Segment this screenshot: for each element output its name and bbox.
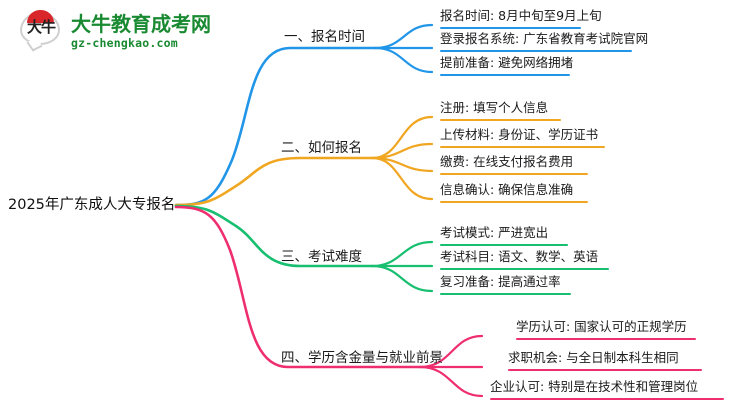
leaf-1-3-text: 提前准备: 避免网络拥堵	[440, 55, 573, 70]
leaf-3-2-underline	[440, 268, 609, 270]
leaf-1-2-text: 登录报名系统: 广东省教育考试院官网	[440, 31, 648, 46]
branch-label-3[interactable]: 三、考试难度	[281, 249, 362, 266]
leaf-1-3[interactable]: 提前准备: 避免网络拥堵	[440, 55, 573, 76]
leaf-4-3-underline	[490, 398, 724, 400]
leaf-3-2-text: 考试科目: 语文、数学、英语	[440, 249, 598, 264]
branch-1-to-leaf-1-line	[375, 25, 432, 48]
leaf-4-1-underline	[516, 338, 696, 340]
branch-3-to-leaf-3-line	[372, 266, 432, 291]
leaf-3-1-underline	[440, 244, 568, 246]
leaf-2-4-text: 信息确认: 确保信息准确	[440, 182, 573, 197]
leaf-4-2-underline	[508, 369, 702, 371]
root-to-branch-1-line	[176, 48, 375, 205]
leaf-1-2-underline	[440, 50, 632, 52]
leaf-2-1-underline	[440, 119, 561, 121]
leaf-2-3[interactable]: 缴费: 在线支付报名费用	[440, 154, 588, 175]
leaf-3-1-text: 考试模式: 严进宽出	[440, 225, 548, 240]
leaf-4-1[interactable]: 学历认可: 国家认可的正规学历	[516, 319, 696, 340]
leaf-4-1-text: 学历认可: 国家认可的正规学历	[516, 319, 687, 334]
leaf-3-3[interactable]: 复习准备: 提高通过率	[440, 274, 571, 295]
leaf-2-3-underline	[440, 173, 588, 175]
leaf-3-1[interactable]: 考试模式: 严进宽出	[440, 225, 568, 246]
leaf-1-3-underline	[440, 74, 570, 76]
leaf-3-2[interactable]: 考试科目: 语文、数学、英语	[440, 249, 609, 270]
leaf-4-3[interactable]: 企业认可: 特别是在技术性和管理岗位	[490, 379, 724, 400]
leaf-2-4-underline	[440, 201, 588, 203]
leaf-3-3-underline	[440, 293, 571, 295]
branch-label-2[interactable]: 二、如何报名	[281, 140, 362, 157]
leaf-2-2-text: 上传材料: 身份证、学历证书	[440, 127, 598, 142]
leaf-2-3-text: 缴费: 在线支付报名费用	[440, 154, 573, 169]
root-to-branch-4-line	[176, 207, 420, 367]
leaf-2-1[interactable]: 注册: 填写个人信息	[440, 100, 561, 121]
leaf-4-2[interactable]: 求职机会: 与全日制本科生相同	[508, 350, 702, 371]
leaf-2-2-underline	[440, 146, 605, 148]
mindmap-canvas: 大牛 大牛教育成考网 gz-chengkao.com	[0, 0, 750, 410]
leaf-2-2[interactable]: 上传材料: 身份证、学历证书	[440, 127, 605, 148]
branch-1-to-leaf-3-line	[375, 48, 432, 72]
branch-3-to-leaf-1-line	[372, 242, 432, 266]
branch-label-4[interactable]: 四、学历含金量与就业前景	[281, 350, 443, 367]
leaf-4-2-text: 求职机会: 与全日制本科生相同	[508, 350, 679, 365]
branch-label-1[interactable]: 一、报名时间	[284, 29, 365, 46]
leaf-1-1-underline	[440, 27, 581, 29]
root-to-branch-2-line	[176, 158, 372, 205]
leaf-2-4[interactable]: 信息确认: 确保信息准确	[440, 182, 588, 203]
leaf-1-1-text: 报名时间: 8月中旬至9月上旬	[440, 8, 602, 23]
leaf-3-3-text: 复习准备: 提高通过率	[440, 274, 561, 289]
leaf-1-2[interactable]: 登录报名系统: 广东省教育考试院官网	[440, 31, 648, 52]
leaf-1-1[interactable]: 报名时间: 8月中旬至9月上旬	[440, 8, 602, 29]
root-node-label[interactable]: 2025年广东成人大专报名	[8, 196, 175, 214]
leaf-2-1-text: 注册: 填写个人信息	[440, 100, 548, 115]
leaf-4-3-text: 企业认可: 特别是在技术性和管理岗位	[490, 379, 698, 394]
branch-4-to-leaf-3-line	[420, 367, 482, 396]
